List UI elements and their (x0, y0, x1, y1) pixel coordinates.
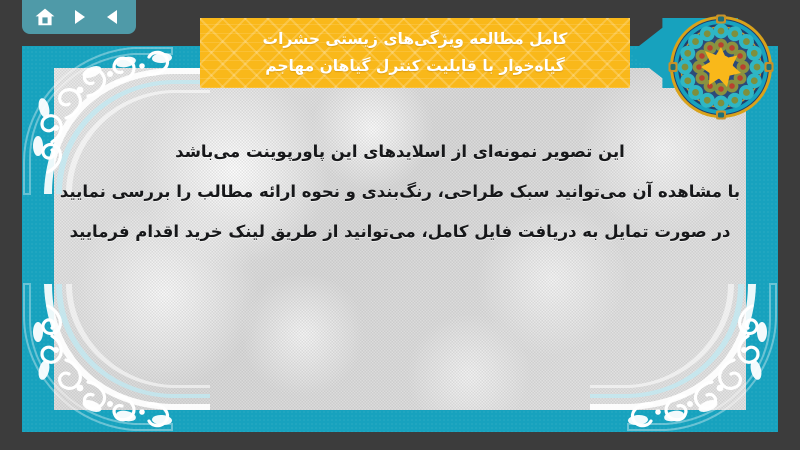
body-line-2: با مشاهده آن می‌توانید سبک طراحی، رنگ‌بن… (50, 172, 750, 212)
slide-panel: این تصویر نمونه‌ای از اسلایدهای این پاور… (22, 46, 778, 432)
previous-slide-button[interactable] (100, 4, 126, 30)
home-icon (34, 7, 56, 27)
next-slide-button[interactable] (66, 4, 92, 30)
title-band: کامل مطالعه ویژگی‌های زیستی حشرات گیاه‌خ… (200, 18, 630, 88)
title-banner: کامل مطالعه ویژگی‌های زیستی حشرات گیاه‌خ… (200, 18, 738, 88)
body-line-1: این تصویر نمونه‌ای از اسلایدهای این پاور… (50, 132, 750, 172)
home-button[interactable] (32, 4, 58, 30)
triangle-right-icon (70, 8, 88, 26)
title-line-2: گیاه‌خوار با قابلیت کنترل گیاهان مهاجم (265, 53, 565, 80)
slide-body-text: این تصویر نمونه‌ای از اسلایدهای این پاور… (22, 132, 778, 252)
triangle-left-icon (104, 8, 122, 26)
body-line-3: در صورت تمایل به دریافت فایل کامل، می‌تو… (50, 212, 750, 252)
title-line-1: کامل مطالعه ویژگی‌های زیستی حشرات (263, 26, 568, 53)
ribbon-tail-pennant (630, 18, 738, 88)
slide-canvas: این تصویر نمونه‌ای از اسلایدهای این پاور… (0, 0, 800, 450)
navigation-toolbar (22, 0, 136, 34)
